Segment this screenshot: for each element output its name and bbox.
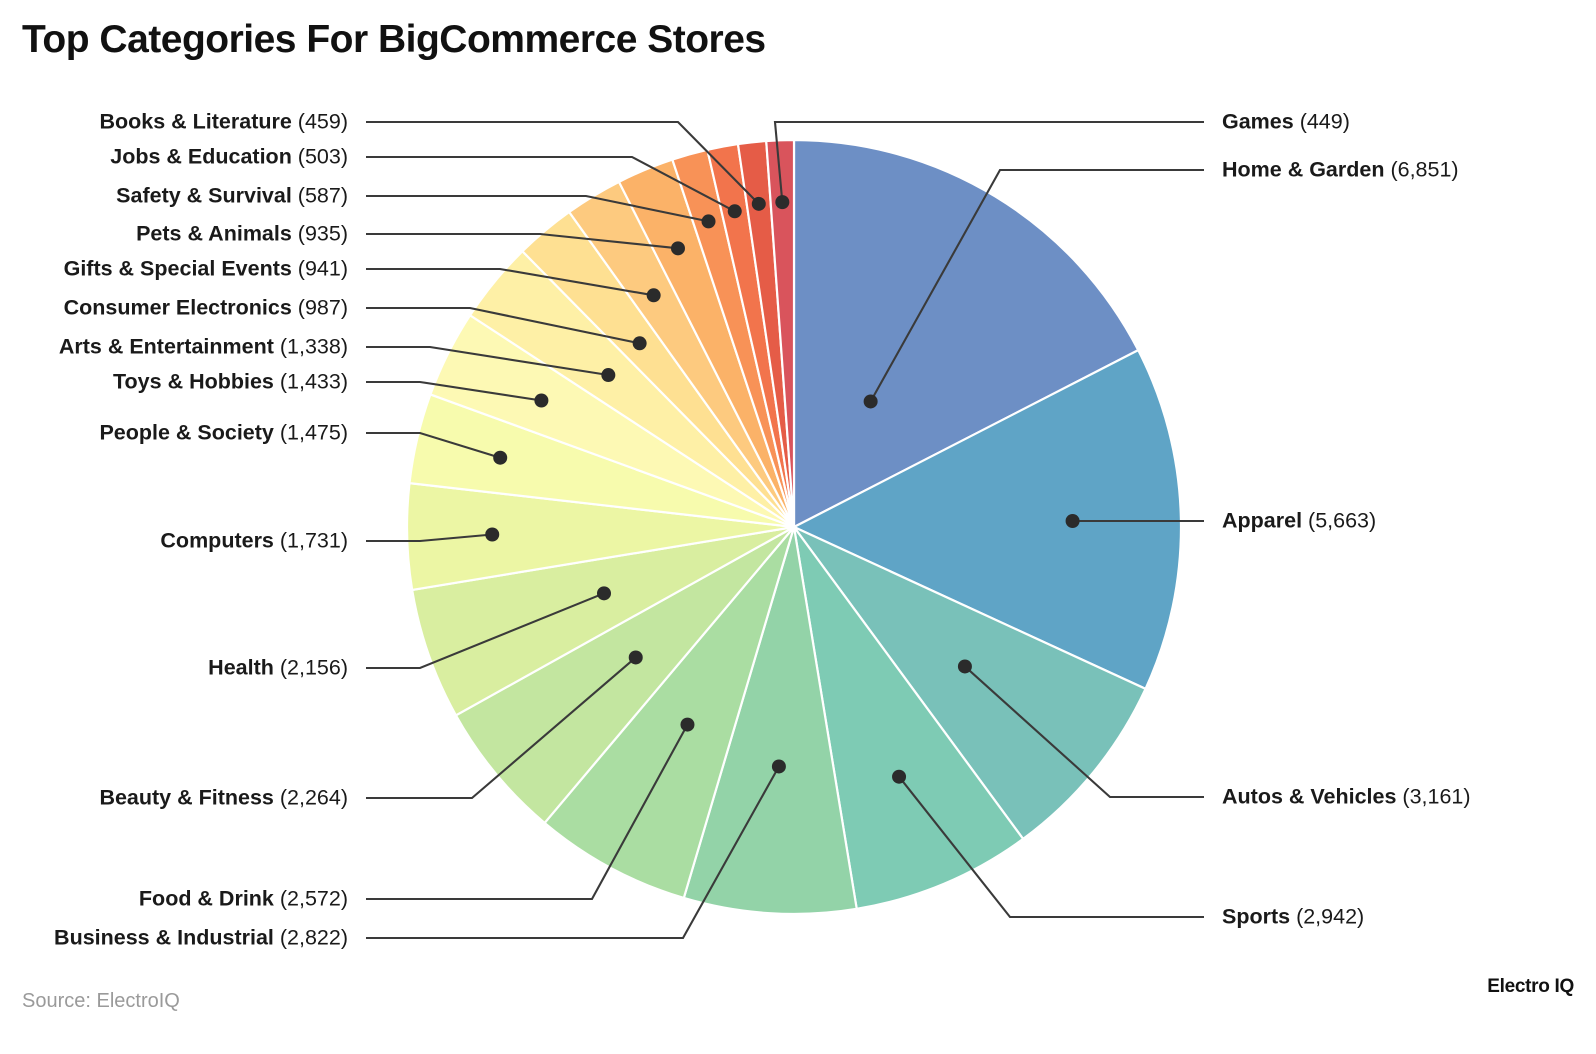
leader-dot [647,288,661,302]
pie-slice-label: People & Society (1,475) [99,422,348,444]
leader-dot [958,659,972,673]
leader-dot [752,197,766,211]
pie-slice-label-name: Food & Drink [139,886,274,910]
pie-slice-label: Sports (2,942) [1222,906,1364,928]
pie-slice-label-value: (587) [292,183,348,207]
pie-slice-label-value: (2,264) [274,785,348,809]
pie-slice-label-value: (449) [1294,109,1350,133]
leader-dot [680,718,694,732]
pie-slice-label-value: (1,338) [274,334,348,358]
leader-dot [633,336,647,350]
pie-slice-label: Safety & Survival (587) [116,185,348,207]
pie-slice-label-name: Pets & Animals [136,221,292,245]
pie-slice-label: Pets & Animals (935) [136,223,348,245]
leader-dot [597,586,611,600]
pie-slice-label-value: (987) [292,295,348,319]
leader-dot [629,650,643,664]
pie-slice-label-value: (1,433) [274,369,348,393]
source-note: Source: ElectroIQ [22,990,180,1013]
pie-slice-label-name: Toys & Hobbies [113,369,274,393]
brand-mark: Electro IQ [1487,976,1574,998]
pie-slice-label: Computers (1,731) [160,530,348,552]
pie-slice-label-name: Gifts & Special Events [64,256,292,280]
pie-slice-label: Apparel (5,663) [1222,510,1376,532]
pie-slice-label-name: Apparel [1222,508,1302,532]
pie-slice-label: Health (2,156) [208,657,348,679]
pie-slice-label-name: Jobs & Education [110,144,292,168]
pie-slice-label: Books & Literature (459) [99,111,348,133]
leader-dot [671,241,685,255]
pie-slice-label-name: Computers [160,528,273,552]
pie-slices-group [407,140,1181,914]
leader-dot [775,195,789,209]
pie-slice-label-value: (5,663) [1302,508,1376,532]
pie-slice-label: Autos & Vehicles (3,161) [1222,786,1471,808]
pie-slice-label-value: (935) [292,221,348,245]
pie-slice-label-value: (1,475) [274,420,348,444]
pie-slice-label-name: Autos & Vehicles [1222,784,1396,808]
pie-slice-label-value: (2,156) [274,655,348,679]
pie-slice-label: Gifts & Special Events (941) [64,258,348,280]
pie-slice-label: Games (449) [1222,111,1350,133]
pie-slice-label: Beauty & Fitness (2,264) [99,787,348,809]
pie-slice-label-name: Books & Literature [99,109,291,133]
leader-dot [485,528,499,542]
pie-slice-label-name: Sports [1222,904,1290,928]
pie-slice-label-value: (941) [292,256,348,280]
pie-slice-label-value: (503) [292,144,348,168]
pie-slice-label: Consumer Electronics (987) [64,297,348,319]
pie-slice-label-name: Beauty & Fitness [99,785,273,809]
leader-dot [702,214,716,228]
pie-slice-label-name: Health [208,655,274,679]
pie-slice-label-name: Arts & Entertainment [59,334,274,358]
leader-dot [728,204,742,218]
pie-slice-label-value: (1,731) [274,528,348,552]
pie-slice-label: Business & Industrial (2,822) [54,927,348,949]
pie-slice-label-value: (3,161) [1396,784,1470,808]
pie-slice-label-value: (2,822) [274,925,348,949]
pie-slice-label: Jobs & Education (503) [110,146,348,168]
leader-dot [601,368,615,382]
pie-slice-label-value: (6,851) [1384,157,1458,181]
leader-dot [864,394,878,408]
pie-slice-label-name: Games [1222,109,1294,133]
pie-slice-label-name: People & Society [99,420,273,444]
pie-slice-label-value: (459) [292,109,348,133]
leader-dot [892,770,906,784]
pie-slice-label-name: Consumer Electronics [64,295,292,319]
pie-slice-label: Toys & Hobbies (1,433) [113,371,348,393]
pie-slice-label-name: Home & Garden [1222,157,1384,181]
leader-dot [534,394,548,408]
pie-slice-label: Home & Garden (6,851) [1222,159,1459,181]
pie-slice-label: Food & Drink (2,572) [139,888,348,910]
leader-dot [493,451,507,465]
pie-slice-label-name: Safety & Survival [116,183,292,207]
leader-dot [772,759,786,773]
pie-slice-label-value: (2,572) [274,886,348,910]
pie-slice-label: Arts & Entertainment (1,338) [59,336,348,358]
leader-dot [1066,514,1080,528]
pie-slice-label-value: (2,942) [1290,904,1364,928]
pie-slice-label-name: Business & Industrial [54,925,274,949]
